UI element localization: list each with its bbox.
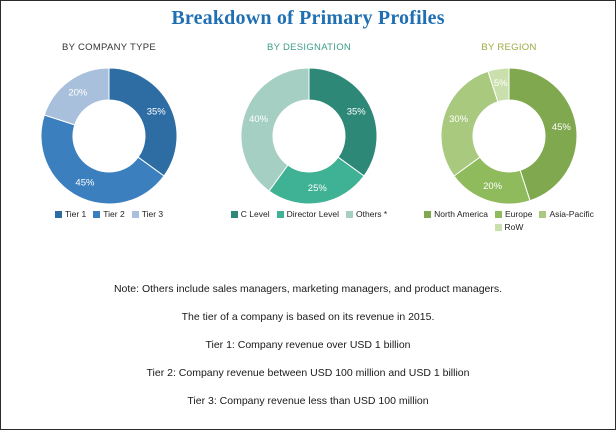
notes-block: Note: Others include sales managers, mar…	[1, 283, 615, 408]
legend-designation: C LevelDirector LevelOthers *	[209, 209, 409, 219]
donut-slices-region	[441, 68, 577, 204]
legend-company-type: Tier 1Tier 2Tier 3	[9, 209, 209, 219]
note-line: The tier of a company is based on its re…	[1, 311, 615, 324]
chart-panel-company-type: BY COMPANY TYPE 35%45%20%	[9, 41, 209, 211]
slice-percent-label: 20%	[68, 88, 88, 99]
legend-swatch-icon	[495, 211, 502, 218]
legend-swatch-icon	[93, 211, 100, 218]
legend-swatch-icon	[346, 211, 353, 218]
legend-label: Europe	[505, 209, 532, 219]
slice-percent-label: 35%	[147, 106, 167, 117]
legend-item[interactable]: Europe	[495, 209, 532, 219]
legend-region: North AmericaEuropeAsia-PacificRoW	[409, 209, 609, 232]
legend-swatch-icon	[424, 211, 431, 218]
legend-item[interactable]: Tier 2	[93, 209, 124, 219]
chart-title-company-type: BY COMPANY TYPE	[9, 41, 209, 55]
donut-slices-company-type	[41, 68, 177, 204]
note-line: Tier 2: Company revenue between USD 100 …	[1, 367, 615, 380]
note-line: Tier 3: Company revenue less than USD 10…	[1, 395, 615, 408]
legend-item[interactable]: Tier 1	[55, 209, 86, 219]
chart-title-designation: BY DESIGNATION	[209, 41, 409, 55]
legend-swatch-icon	[539, 211, 546, 218]
donut-svg-company-type: 35%45%20%	[34, 61, 184, 211]
legend-swatch-icon	[231, 211, 238, 218]
legend-label: Tier 1	[65, 209, 86, 219]
slice-percent-label: 35%	[347, 106, 367, 117]
chart-title-region: BY REGION	[409, 41, 609, 55]
slice-percent-label: 40%	[249, 114, 269, 125]
legend-label: Tier 2	[103, 209, 124, 219]
legend-item[interactable]: Tier 3	[132, 209, 163, 219]
legend-label: Asia-Pacific	[549, 209, 593, 219]
legend-swatch-icon	[277, 211, 284, 218]
legend-label: C Level	[241, 209, 270, 219]
legend-swatch-icon	[55, 211, 62, 218]
page-title: Breakdown of Primary Profiles	[1, 7, 615, 30]
chart-panel-region: BY REGION 45%20%30%5%	[409, 41, 609, 211]
legend-swatch-icon	[132, 211, 139, 218]
legend-label: North America	[434, 209, 488, 219]
slice-percent-label: 25%	[308, 183, 328, 194]
legend-label: Others *	[356, 209, 387, 219]
infographic-frame: Breakdown of Primary Profiles BY COMPANY…	[0, 0, 616, 430]
donut-chart-company-type: 35%45%20%	[34, 61, 184, 211]
slice-percent-label: 45%	[552, 122, 572, 133]
donut-slice	[109, 68, 177, 176]
legend-item[interactable]: C Level	[231, 209, 270, 219]
slice-percent-label: 5%	[494, 78, 508, 89]
note-line: Note: Others include sales managers, mar…	[1, 283, 615, 296]
legend-item[interactable]: North America	[424, 209, 488, 219]
note-line: Tier 1: Company revenue over USD 1 billi…	[1, 339, 615, 352]
legend-item[interactable]: Others *	[346, 209, 387, 219]
chart-panel-designation: BY DESIGNATION 35%25%40%	[209, 41, 409, 211]
donut-slice	[309, 68, 377, 176]
slice-percent-label: 30%	[449, 114, 469, 125]
legend-item[interactable]: Director Level	[277, 209, 339, 219]
donut-chart-region: 45%20%30%5%	[434, 61, 584, 211]
legend-label: Tier 3	[142, 209, 163, 219]
legend-swatch-icon	[495, 224, 502, 231]
donut-svg-region: 45%20%30%5%	[434, 61, 584, 211]
legend-label: RoW	[505, 222, 524, 232]
legend-label: Director Level	[287, 209, 339, 219]
slice-percent-label: 45%	[75, 178, 95, 189]
donut-svg-designation: 35%25%40%	[234, 61, 384, 211]
donut-chart-designation: 35%25%40%	[234, 61, 384, 211]
slice-percent-label: 20%	[483, 181, 503, 192]
legend-item[interactable]: Asia-Pacific	[539, 209, 593, 219]
legend-item[interactable]: RoW	[495, 222, 524, 232]
